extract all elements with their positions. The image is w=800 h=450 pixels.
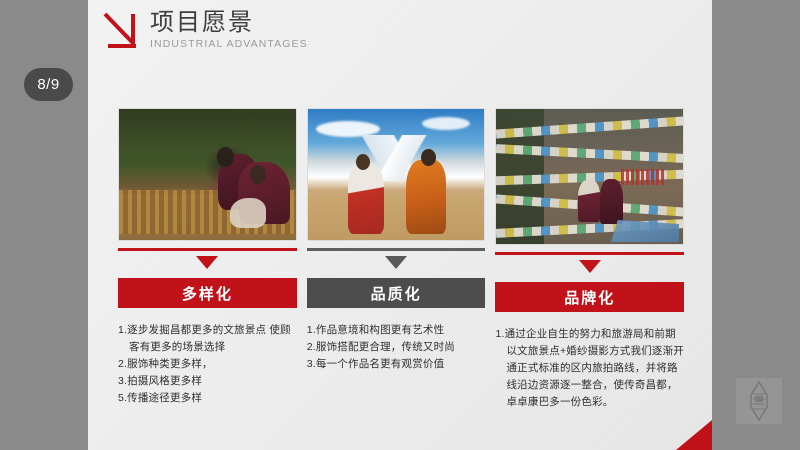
page-title: 项目愿景 xyxy=(150,10,308,37)
divider-bar xyxy=(118,248,297,251)
pointer-triangle xyxy=(118,256,297,269)
divider-bar xyxy=(307,248,486,251)
page-indicator-badge: 8/9 xyxy=(24,68,73,101)
slide-viewer: 8/9 项目愿景 INDUSTRIAL ADVANTAGES xyxy=(0,0,800,450)
banner-label: 多样化 xyxy=(118,278,297,308)
slide-canvas: 项目愿景 INDUSTRIAL ADVANTAGES 多样化 1.逐步发掘昌都更… xyxy=(88,0,712,450)
feature-column: 品质化 1.作品意境和构图更有艺术性 2.服饰搭配更合理，传统又时尚 3.每一个… xyxy=(307,108,486,411)
feature-text: 1.作品意境和构图更有艺术性 2.服饰搭配更合理，传统又时尚 3.每一个作品名更… xyxy=(307,322,486,373)
photo-couple-prayer-flags xyxy=(495,108,684,245)
feature-columns: 多样化 1.逐步发掘昌都更多的文旅景点 使顾客有更多的场景选择 2.服饰种类更多… xyxy=(118,108,684,411)
feature-text: 1.逐步发掘昌都更多的文旅景点 使顾客有更多的场景选择 2.服饰种类更多样， 3… xyxy=(118,322,297,407)
banner-label: 品牌化 xyxy=(495,282,684,312)
down-right-arrow-icon xyxy=(104,8,146,54)
divider-bar xyxy=(495,252,684,255)
pointer-triangle xyxy=(495,260,684,273)
page-subtitle: INDUSTRIAL ADVANTAGES xyxy=(150,38,308,50)
photo-couple-bridge xyxy=(118,108,297,241)
slide-header: 项目愿景 INDUSTRIAL ADVANTAGES xyxy=(104,8,308,54)
pointer-triangle xyxy=(307,256,486,269)
feature-text: 1.通过企业自生的努力和旅游局和前期以文旅景点+婚纱摄影方式我们逐渐开通正式标准… xyxy=(495,326,684,411)
photo-couple-mountains xyxy=(307,108,486,241)
corner-accent-triangle xyxy=(676,420,712,450)
banner-label: 品质化 xyxy=(307,278,486,308)
feature-column: 品牌化 1.通过企业自生的努力和旅游局和前期以文旅景点+婚纱摄影方式我们逐渐开通… xyxy=(495,108,684,411)
feature-column: 多样化 1.逐步发掘昌都更多的文旅景点 使顾客有更多的场景选择 2.服饰种类更多… xyxy=(118,108,297,411)
diamond-emblem-watermark xyxy=(736,378,782,424)
